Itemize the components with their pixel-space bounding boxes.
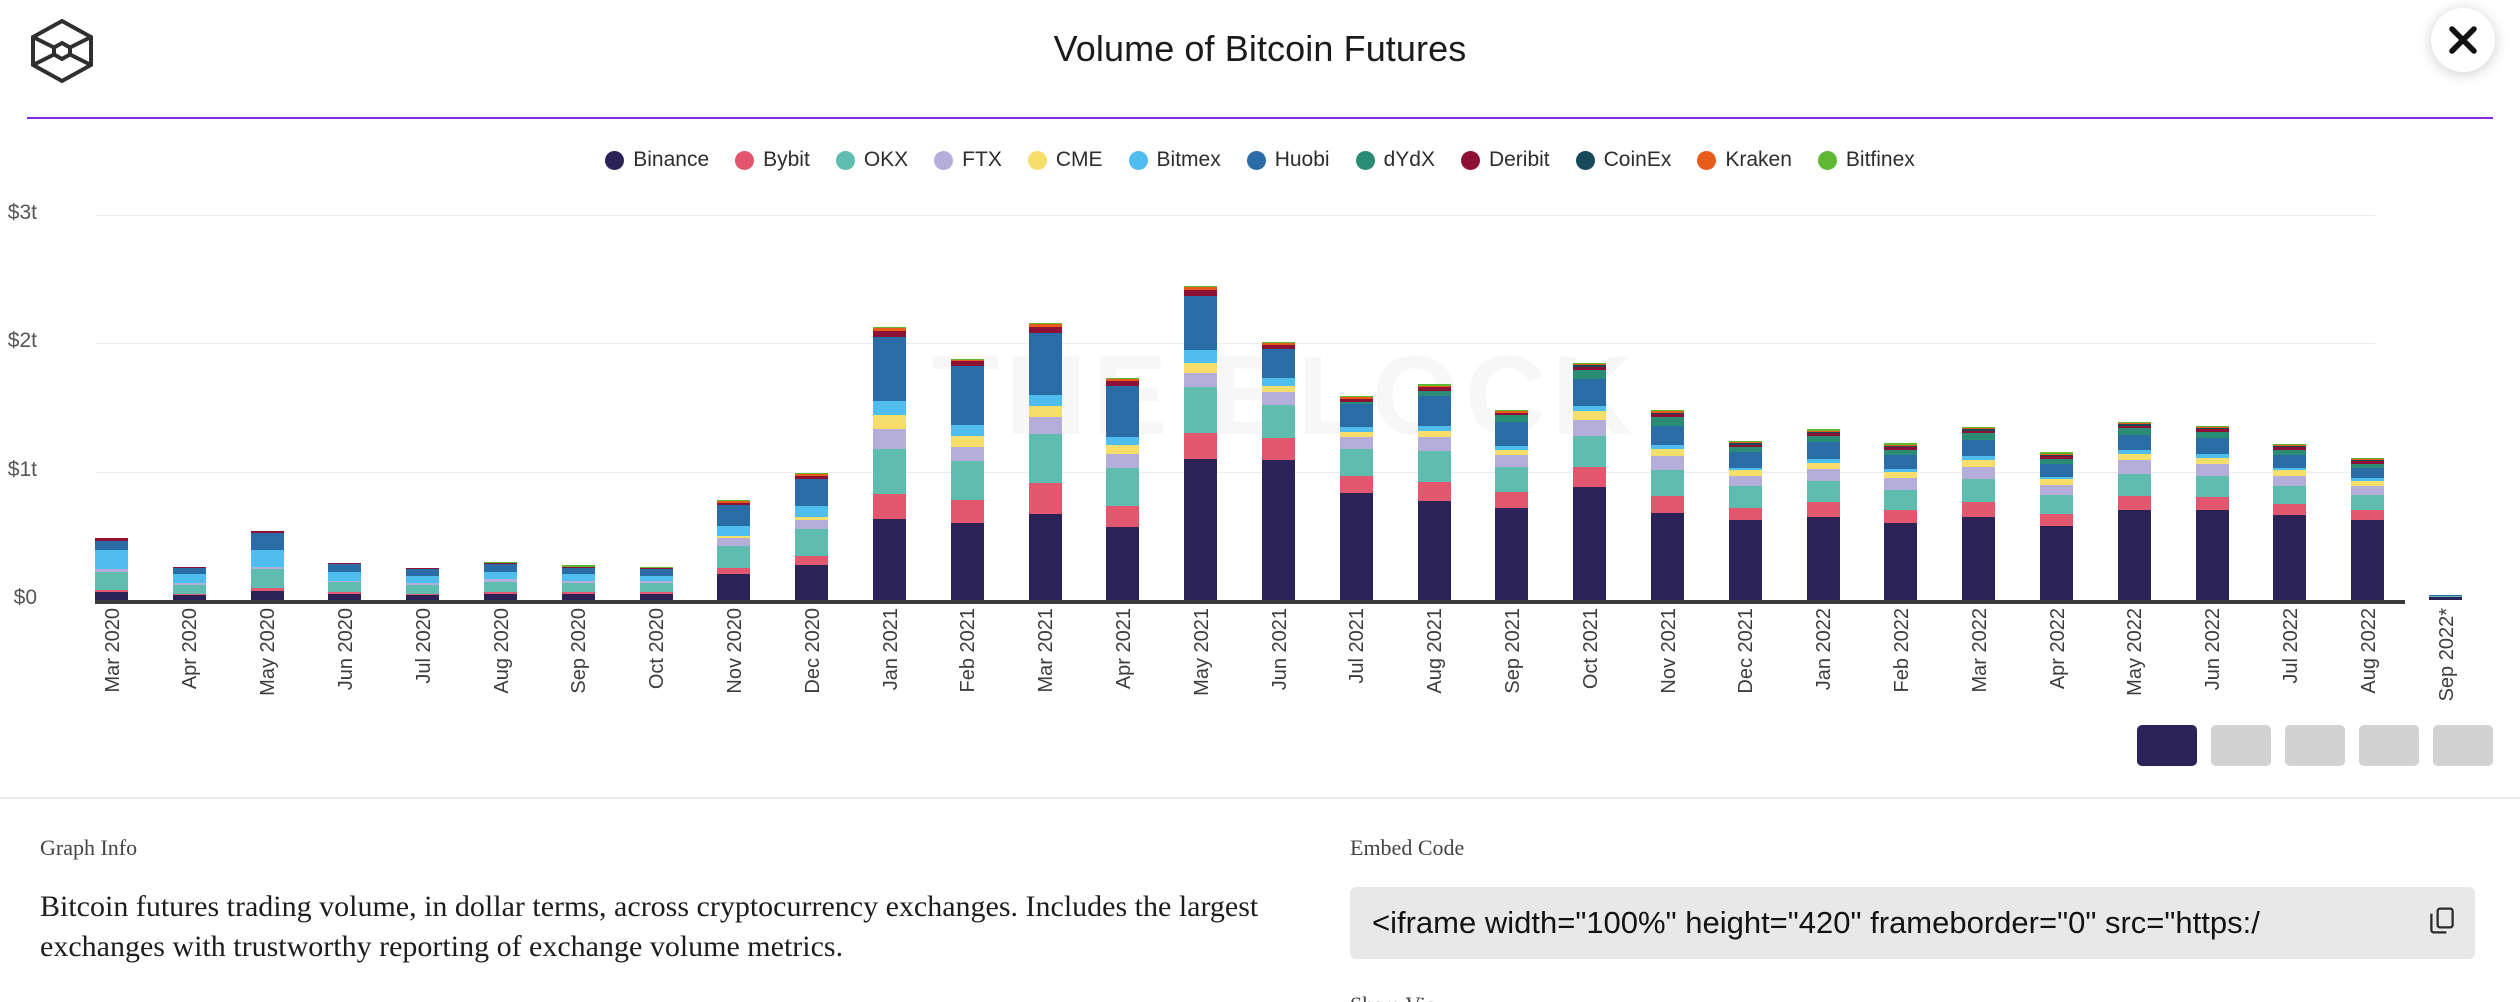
bar-segment-okx <box>1884 490 1917 511</box>
bar-segment-bybit <box>873 494 906 520</box>
legend-item-bybit[interactable]: Bybit <box>735 148 810 172</box>
bar-segment-bitmex <box>795 506 828 516</box>
bar-segment-bitmex <box>484 572 517 580</box>
copy-icon[interactable] <box>2427 906 2457 941</box>
bar-segment-bybit <box>1029 483 1062 514</box>
bar-segment-ftx <box>1340 437 1373 449</box>
bar-segment-okx <box>406 585 439 594</box>
bar-segment-binance <box>1262 460 1295 600</box>
bar-segment-binance <box>1884 523 1917 600</box>
bar-nov2021[interactable] <box>1651 410 1684 600</box>
bar-segment-okx <box>2118 474 2151 496</box>
bar-segment-bybit <box>1651 496 1684 513</box>
bar-feb2022[interactable] <box>1884 443 1917 600</box>
bar-segment-binance <box>1573 487 1606 600</box>
bar-oct2021[interactable] <box>1573 363 1606 600</box>
bar-segment-okx <box>717 546 750 568</box>
bar-segment-huobi <box>2040 464 2073 477</box>
y-axis-tick-label: $1t <box>0 458 37 482</box>
bar-sep2022[interactable] <box>2429 595 2462 600</box>
bar-apr2021[interactable] <box>1106 378 1139 600</box>
bar-segment-bitmex <box>173 574 206 583</box>
bar-segment-okx <box>795 529 828 556</box>
bar-segment-okx <box>1184 387 1217 433</box>
bar-segment-binance <box>2196 510 2229 600</box>
legend-swatch-icon <box>1129 151 1148 170</box>
bar-segment-ftx <box>1418 437 1451 451</box>
bar-dec2020[interactable] <box>795 473 828 600</box>
legend-label: Deribit <box>1489 148 1550 172</box>
bar-sep2020[interactable] <box>562 565 595 600</box>
bar-apr2020[interactable] <box>173 567 206 600</box>
bar-segment-binance <box>795 565 828 600</box>
gridline <box>95 472 2375 473</box>
bar-segment-dydx <box>1651 417 1684 426</box>
bar-mar2022[interactable] <box>1962 427 1995 600</box>
bar-segment-binance <box>2273 515 2306 600</box>
x-axis-tick-label: Aug 2020 <box>491 608 514 694</box>
bar-segment-binance <box>1962 517 1995 600</box>
bar-segment-okx <box>1262 405 1295 438</box>
legend-label: Bitfinex <box>1846 148 1915 172</box>
bar-segment-huobi <box>484 564 517 572</box>
bar-segment-okx <box>251 569 284 588</box>
bar-apr2022[interactable] <box>2040 452 2073 600</box>
bar-segment-bybit <box>2118 496 2151 510</box>
gridline <box>95 343 2375 344</box>
bar-segment-okx <box>484 582 517 592</box>
bar-segment-ftx <box>1184 373 1217 387</box>
bar-dec2021[interactable] <box>1729 441 1762 600</box>
bar-jul2021[interactable] <box>1340 396 1373 600</box>
x-axis-tick-label: Jul 2021 <box>1346 608 1369 684</box>
bar-segment-binance <box>173 595 206 600</box>
bar-segment-cme <box>951 436 984 448</box>
bar-segment-huobi <box>1184 296 1217 350</box>
header: Volume of Bitcoin Futures <box>0 0 2520 118</box>
bar-segment-binance <box>951 523 984 600</box>
embed-code-value: <iframe width="100%" height="420" frameb… <box>1372 905 2260 941</box>
legend-swatch-icon <box>1697 151 1716 170</box>
bar-segment-bitmex <box>95 550 128 569</box>
bar-segment-ftx <box>951 447 984 461</box>
legend-label: OKX <box>864 148 908 172</box>
bar-segment-bybit <box>951 500 984 523</box>
pager-box-5[interactable] <box>2433 725 2493 766</box>
bar-segment-huobi <box>1106 386 1139 437</box>
legend-swatch-icon <box>1247 151 1266 170</box>
bar-segment-huobi <box>873 337 906 401</box>
bar-segment-bybit <box>1807 502 1840 516</box>
bar-segment-huobi <box>1418 396 1451 426</box>
bar-segment-okx <box>2351 495 2384 510</box>
x-axis-tick-label: Aug 2022 <box>2358 608 2381 694</box>
bar-segment-okx <box>1495 467 1528 493</box>
bar-jul2020[interactable] <box>406 568 439 600</box>
embed-code-section: Embed Code <iframe width="100%" height="… <box>1350 835 2490 959</box>
x-axis-tick-label: Jan 2022 <box>1813 608 1836 690</box>
bar-segment-bitmex <box>1029 395 1062 407</box>
bar-segment-okx <box>328 582 361 592</box>
graph-info-text: Bitcoin futures trading volume, in dolla… <box>40 887 1300 966</box>
bar-segment-binance <box>1418 501 1451 600</box>
bar-segment-huobi <box>717 505 750 526</box>
bar-segment-okx <box>1573 436 1606 467</box>
bar-segment-cme <box>873 415 906 429</box>
bar-segment-bybit <box>1495 492 1528 507</box>
bar-segment-okx <box>1106 468 1139 507</box>
graph-info-section: Graph Info Bitcoin futures trading volum… <box>40 835 1300 966</box>
bar-segment-okx <box>173 585 206 594</box>
bar-jan2021[interactable] <box>873 327 906 600</box>
bar-segment-huobi <box>95 541 128 550</box>
x-axis-tick-label: Jul 2020 <box>413 608 436 684</box>
bar-segment-ftx <box>1573 420 1606 435</box>
bar-segment-huobi <box>2273 455 2306 468</box>
bar-mar2020[interactable] <box>95 538 128 600</box>
x-axis-tick-label: Aug 2021 <box>1424 608 1447 694</box>
legend-swatch-icon <box>605 151 624 170</box>
bar-segment-bybit <box>1184 433 1217 459</box>
chart-modal: Volume of Bitcoin Futures BinanceBybitOK… <box>0 0 2520 1002</box>
legend-label: CME <box>1056 148 1103 172</box>
legend-item-bitfinex[interactable]: Bitfinex <box>1818 148 1915 172</box>
bar-segment-binance <box>1807 517 1840 600</box>
page-title: Volume of Bitcoin Futures <box>0 28 2520 70</box>
legend-item-deribit[interactable]: Deribit <box>1461 148 1550 172</box>
bar-segment-bybit <box>2196 497 2229 510</box>
bar-segment-binance <box>251 591 284 600</box>
legend-label: Huobi <box>1275 148 1330 172</box>
bar-aug2022[interactable] <box>2351 458 2384 600</box>
bar-segment-okx <box>1418 451 1451 482</box>
bar-segment-binance <box>2040 526 2073 600</box>
legend-label: FTX <box>962 148 1002 172</box>
bar-segment-huobi <box>795 479 828 506</box>
bar-segment-binance <box>1340 493 1373 600</box>
bar-jan2022[interactable] <box>1807 429 1840 600</box>
footer: Graph Info Bitcoin futures trading volum… <box>0 799 2520 1002</box>
bar-segment-huobi <box>251 533 284 550</box>
bar-segment-binance <box>1029 514 1062 600</box>
bar-segment-huobi <box>2118 435 2151 450</box>
bar-jun2020[interactable] <box>328 563 361 600</box>
x-axis-tick-label: Dec 2021 <box>1735 608 1758 694</box>
gridline <box>95 215 2375 216</box>
bar-segment-huobi <box>951 366 984 425</box>
bar-segment-okx <box>2040 495 2073 514</box>
bar-segment-bybit <box>1106 506 1139 527</box>
embed-code-label: Embed Code <box>1350 835 2490 861</box>
bar-segment-bitmex <box>1106 437 1139 445</box>
accent-rule <box>27 117 2493 119</box>
bar-segment-okx <box>2273 486 2306 504</box>
bar-segment-huobi <box>1495 422 1528 446</box>
x-axis-tick-label: Sep 2022* <box>2436 608 2459 701</box>
bar-segment-okx <box>1962 479 1995 502</box>
bar-segment-binance <box>1651 513 1684 600</box>
bar-segment-okx <box>1729 486 1762 508</box>
chart-pager[interactable] <box>2137 725 2493 766</box>
bar-segment-binance <box>2429 597 2462 600</box>
x-axis-tick-label: Sep 2021 <box>1502 608 1525 694</box>
bar-segment-huobi <box>1029 333 1062 395</box>
bar-segment-binance <box>1495 508 1528 600</box>
x-axis-tick-label: Apr 2020 <box>179 608 202 689</box>
x-axis-tick-label: Mar 2020 <box>102 608 125 693</box>
bar-segment-bybit <box>1573 467 1606 488</box>
bar-segment-ftx <box>1807 469 1840 481</box>
bar-segment-binance <box>1106 527 1139 600</box>
bar-segment-cme <box>1184 363 1217 373</box>
bar-segment-ftx <box>1106 454 1139 468</box>
bar-segment-okx <box>640 583 673 592</box>
bar-segment-binance <box>1184 459 1217 600</box>
bar-segment-ftx <box>2351 486 2384 495</box>
legend-item-binance[interactable]: Binance <box>605 148 709 172</box>
bar-segment-binance <box>873 519 906 600</box>
bar-segment-ftx <box>1029 417 1062 435</box>
bar-segment-ftx <box>1495 455 1528 467</box>
bar-segment-bybit <box>1418 482 1451 501</box>
legend-item-okx[interactable]: OKX <box>836 148 908 172</box>
chart-legend: BinanceBybitOKXFTXCMEBitmexHuobidYdXDeri… <box>0 148 2520 172</box>
y-axis-tick-label: $0 <box>0 586 37 610</box>
bar-segment-ftx <box>1962 467 1995 480</box>
legend-swatch-icon <box>1461 151 1480 170</box>
bar-segment-huobi <box>1962 440 1995 457</box>
legend-label: Binance <box>633 148 709 172</box>
x-axis-tick-label: Jul 2022 <box>2280 608 2303 684</box>
x-axis-tick-label: May 2022 <box>2124 608 2147 696</box>
bar-segment-bybit <box>1340 476 1373 494</box>
bar-segment-ftx <box>1262 392 1295 405</box>
legend-swatch-icon <box>836 151 855 170</box>
bar-may2020[interactable] <box>251 531 284 600</box>
bar-sep2021[interactable] <box>1495 410 1528 600</box>
bar-segment-huobi <box>1573 379 1606 406</box>
bar-segment-bybit <box>1884 510 1917 523</box>
bar-segment-binance <box>2351 520 2384 600</box>
pager-box-1[interactable] <box>2137 725 2197 766</box>
bar-segment-ftx <box>2196 464 2229 476</box>
bar-segment-cme <box>1106 445 1139 454</box>
bar-jun2021[interactable] <box>1262 342 1295 600</box>
bar-segment-huobi <box>1651 426 1684 445</box>
bar-segment-bybit <box>2273 504 2306 516</box>
share-via-label: Share Via <box>1350 992 1436 1002</box>
bar-may2021[interactable] <box>1184 286 1217 600</box>
bar-segment-binance <box>2118 510 2151 600</box>
bar-segment-bybit <box>1962 502 1995 516</box>
x-axis-tick-label: Mar 2021 <box>1035 608 1058 693</box>
x-axis-tick-label: Jun 2020 <box>335 608 358 690</box>
pager-box-4[interactable] <box>2359 725 2419 766</box>
bar-segment-dydx <box>1573 370 1606 379</box>
legend-item-ftx[interactable]: FTX <box>934 148 1002 172</box>
bar-segment-bybit <box>1262 438 1295 460</box>
bar-segment-bitmex <box>1184 350 1217 363</box>
bar-may2022[interactable] <box>2118 422 2151 600</box>
bar-segment-ftx <box>717 538 750 546</box>
legend-item-bitmex[interactable]: Bitmex <box>1129 148 1221 172</box>
bar-segment-binance <box>328 594 361 600</box>
bar-segment-bitmex <box>873 401 906 415</box>
x-axis-tick-label: Oct 2021 <box>1580 608 1603 689</box>
bar-segment-bitmex <box>717 526 750 536</box>
bar-jun2022[interactable] <box>2196 426 2229 600</box>
bar-segment-huobi <box>1729 452 1762 467</box>
bar-segment-okx <box>95 572 128 590</box>
x-axis-tick-label: Apr 2021 <box>1113 608 1136 689</box>
bar-segment-okx <box>951 461 984 500</box>
legend-item-dydx[interactable]: dYdX <box>1356 148 1435 172</box>
bar-segment-okx <box>873 449 906 494</box>
graph-info-label: Graph Info <box>40 835 1300 861</box>
legend-item-kraken[interactable]: Kraken <box>1697 148 1792 172</box>
legend-swatch-icon <box>934 151 953 170</box>
x-axis-tick-label: Nov 2020 <box>724 608 747 694</box>
bar-segment-binance <box>717 574 750 600</box>
bar-segment-binance <box>484 594 517 600</box>
x-axis-tick-label: May 2021 <box>1191 608 1214 696</box>
bar-segment-ftx <box>1729 476 1762 486</box>
x-axis-tick-label: Feb 2022 <box>1891 608 1914 693</box>
x-axis-tick-label: May 2020 <box>257 608 280 696</box>
bar-segment-binance <box>1729 520 1762 600</box>
bar-segment-ftx <box>2040 485 2073 495</box>
bar-segment-binance <box>95 592 128 600</box>
legend-swatch-icon <box>1356 151 1375 170</box>
bar-segment-ftx <box>1651 456 1684 470</box>
legend-swatch-icon <box>1576 151 1595 170</box>
x-axis-tick-label: Feb 2021 <box>957 608 980 693</box>
bar-segment-binance <box>406 595 439 600</box>
bar-feb2021[interactable] <box>951 359 984 600</box>
bar-segment-bybit <box>795 556 828 565</box>
bar-segment-binance <box>640 594 673 600</box>
bar-segment-ftx <box>2273 476 2306 486</box>
x-axis-tick-label: Mar 2022 <box>1969 608 1992 693</box>
bar-segment-huobi <box>328 564 361 572</box>
bar-segment-bybit <box>1729 508 1762 521</box>
bar-segment-okx <box>2196 476 2229 498</box>
bar-segment-bitmex <box>406 576 439 584</box>
chart-area: THE BLOCK $0$1t$2t$3tMar 2020Apr 2020May… <box>0 190 2520 730</box>
x-axis-tick-label: Apr 2022 <box>2047 608 2070 689</box>
legend-label: Bitmex <box>1157 148 1221 172</box>
legend-swatch-icon <box>1818 151 1837 170</box>
embed-code-input[interactable]: <iframe width="100%" height="420" frameb… <box>1350 887 2475 959</box>
legend-item-huobi[interactable]: Huobi <box>1247 148 1330 172</box>
bar-segment-huobi <box>1340 404 1373 427</box>
bar-segment-huobi <box>1884 455 1917 469</box>
bar-segment-ftx <box>795 520 828 529</box>
x-axis-tick-label: Jan 2021 <box>880 608 903 690</box>
pager-box-3[interactable] <box>2285 725 2345 766</box>
bar-segment-binance <box>562 594 595 600</box>
close-icon <box>2446 23 2480 57</box>
bar-segment-ftx <box>873 429 906 448</box>
bar-segment-bybit <box>2351 510 2384 520</box>
x-axis-tick-label: Dec 2020 <box>802 608 825 694</box>
legend-label: Kraken <box>1725 148 1792 172</box>
legend-label: Bybit <box>763 148 810 172</box>
x-axis-tick-label: Oct 2020 <box>646 608 669 689</box>
bar-segment-okx <box>1807 481 1840 503</box>
bar-segment-okx <box>1651 470 1684 496</box>
x-axis-tick-label: Nov 2021 <box>1658 608 1681 694</box>
bar-oct2020[interactable] <box>640 567 673 600</box>
legend-swatch-icon <box>735 151 754 170</box>
x-axis-line <box>95 600 2405 604</box>
bar-segment-okx <box>562 583 595 592</box>
bar-segment-bitmex <box>251 550 284 567</box>
legend-item-cme[interactable]: CME <box>1028 148 1103 172</box>
pager-box-2[interactable] <box>2211 725 2271 766</box>
bar-segment-ftx <box>2118 460 2151 474</box>
bar-segment-bitmex <box>328 572 361 581</box>
bar-segment-okx <box>1340 449 1373 476</box>
bar-segment-cme <box>1573 411 1606 420</box>
bar-segment-bitmex <box>951 425 984 435</box>
bar-jul2022[interactable] <box>2273 444 2306 601</box>
x-axis-tick-label: Jun 2022 <box>2202 608 2225 690</box>
bar-mar2021[interactable] <box>1029 323 1062 600</box>
x-axis-tick-label: Sep 2020 <box>568 608 591 694</box>
bar-segment-cme <box>1651 449 1684 457</box>
legend-label: CoinEx <box>1604 148 1672 172</box>
bar-aug2020[interactable] <box>484 562 517 600</box>
legend-item-coinex[interactable]: CoinEx <box>1576 148 1672 172</box>
y-axis-tick-label: $3t <box>0 201 37 225</box>
bar-segment-huobi <box>1807 442 1840 459</box>
bar-segment-cme <box>1029 406 1062 416</box>
close-button[interactable] <box>2431 8 2495 72</box>
legend-label: dYdX <box>1384 148 1435 172</box>
bar-segment-bitmex <box>1262 378 1295 386</box>
bar-segment-ftx <box>1884 478 1917 490</box>
bar-segment-okx <box>1029 434 1062 483</box>
bar-segment-huobi <box>1262 349 1295 379</box>
bar-nov2020[interactable] <box>717 500 750 600</box>
bar-segment-bybit <box>2040 514 2073 526</box>
legend-swatch-icon <box>1028 151 1047 170</box>
y-axis-tick-label: $2t <box>0 329 37 353</box>
chart-plot: THE BLOCK $0$1t$2t$3tMar 2020Apr 2020May… <box>95 190 2475 600</box>
bar-segment-huobi <box>2196 438 2229 453</box>
x-axis-tick-label: Jun 2021 <box>1269 608 1292 690</box>
bar-aug2021[interactable] <box>1418 384 1451 600</box>
bar-segment-huobi <box>2351 468 2384 478</box>
